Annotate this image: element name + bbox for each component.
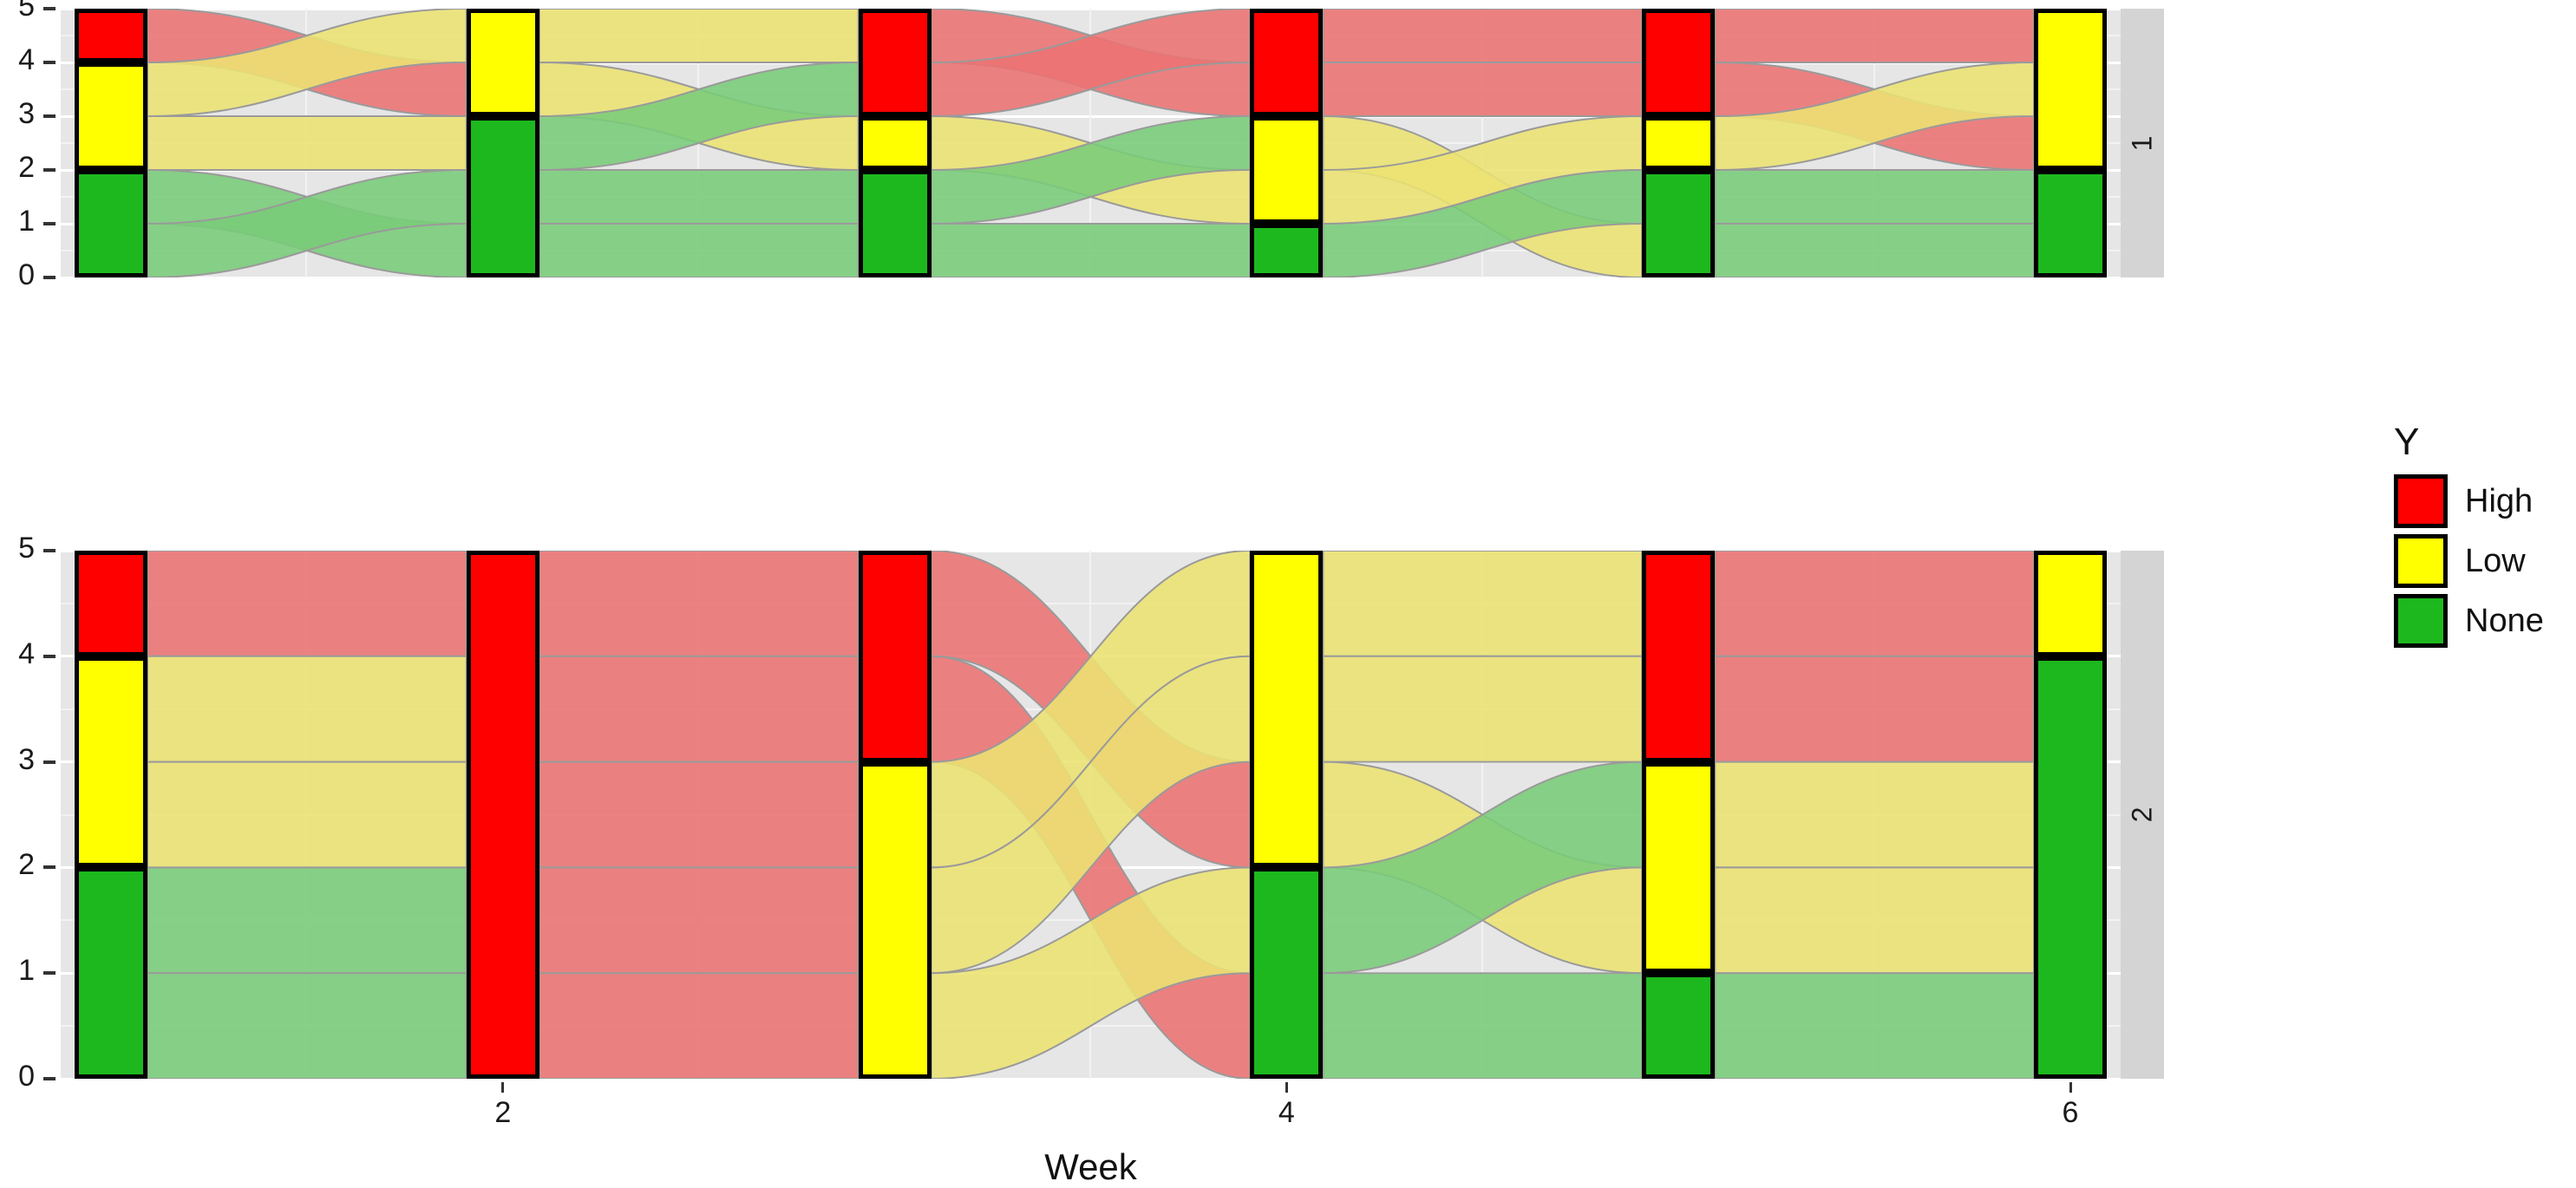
flow-ribbons [61,551,2121,1079]
stratum-block[interactable] [75,867,147,1079]
alluvium-flow [1715,656,2034,762]
y-axis-tick-label: 2 [0,848,35,882]
stratum-block[interactable] [859,170,932,277]
stratum-block[interactable] [467,551,539,1079]
alluvium-flow [1323,973,1642,1079]
stratum-block[interactable] [1642,170,1715,277]
stratum-block[interactable] [75,170,147,277]
y-axis-tick-label: 5 [0,532,35,565]
alluvium-flow [1715,973,2034,1079]
y-axis-tick-mark [43,1077,56,1080]
facet-strip-1: 1 [2121,9,2164,277]
stratum-block[interactable] [859,762,932,1079]
stratum-block[interactable] [1250,551,1323,867]
y-axis-tick-label: 4 [0,43,35,77]
y-axis-tick-mark [43,549,56,552]
alluvium-flow [147,551,467,656]
stratum-block[interactable] [75,551,147,656]
legend-title: Y [2394,421,2419,464]
alluvium-flow [1323,9,1642,62]
alluvial-chart-root: 012345 012345 1 2 246 Week Y HighLowNone [0,0,2576,1174]
facet-strip-label-1: 1 [2126,135,2158,151]
y-axis-tick-mark [43,971,56,975]
y-axis-tick-mark [43,61,56,64]
panel-facet-1 [61,9,2121,277]
alluvium-flow [539,224,859,277]
x-axis-tick-label: 6 [2036,1096,2105,1130]
y-axis-tick-label: 5 [0,0,35,23]
alluvium-flow [1323,551,1642,656]
alluvium-flow [1323,656,1642,762]
alluvium-flow [932,224,1251,277]
y-axis-tick-label: 4 [0,637,35,671]
stratum-block[interactable] [859,9,932,116]
x-axis-tick-mark [2069,1082,2072,1093]
alluvium-flow [147,867,467,973]
x-axis-tick-label: 2 [468,1096,538,1130]
stratum-block[interactable] [1250,9,1323,116]
alluvium-flow [147,762,467,868]
stratum-block[interactable] [75,9,147,62]
stratum-block[interactable] [859,551,932,762]
y-axis-tick-label: 1 [0,205,35,238]
y-axis-tick-label: 0 [0,1060,35,1093]
stratum-block[interactable] [1642,116,1715,170]
alluvium-flow [539,867,859,973]
legend-key-label: Low [2465,543,2526,580]
alluvium-flow [539,170,859,224]
x-axis-title: Week [61,1146,2121,1188]
y-axis-tick-label: 3 [0,97,35,131]
alluvium-flow [147,656,467,762]
alluvium-flow [539,551,859,656]
legend-key-swatch [2394,594,2448,648]
y-axis-tick-mark [43,168,56,172]
alluvium-flow [1715,224,2034,277]
legend-key-swatch [2394,534,2448,588]
stratum-block[interactable] [1642,9,1715,116]
y-axis-tick-label: 2 [0,151,35,185]
stratum-block[interactable] [1642,973,1715,1079]
stratum-block[interactable] [1250,224,1323,277]
legend-key-label: High [2465,483,2533,520]
alluvium-flow [147,116,467,170]
y-axis-tick-mark [43,222,56,225]
alluvium-flow [1715,9,2034,62]
panel-facet-2 [61,551,2121,1079]
x-axis-tick-mark [501,1082,504,1093]
y-axis-tick-mark [43,7,56,10]
stratum-block[interactable] [2034,170,2107,277]
y-axis-tick-mark [43,276,56,279]
alluvium-flow [539,9,859,62]
x-axis-tick-mark [1285,1082,1288,1093]
stratum-block[interactable] [75,656,147,868]
facet-strip-2: 2 [2121,551,2164,1079]
alluvium-flow [1715,867,2034,973]
legend-key-swatch [2394,474,2448,528]
y-axis-tick-mark [43,760,56,764]
stratum-block[interactable] [1250,867,1323,1079]
alluvium-flow [539,973,859,1079]
stratum-block[interactable] [2034,9,2107,170]
x-axis-tick-label: 4 [1252,1096,1321,1130]
stratum-block[interactable] [1642,551,1715,762]
y-axis-tick-mark [43,114,56,118]
stratum-block[interactable] [859,116,932,170]
alluvium-flow [539,656,859,762]
stratum-block[interactable] [1250,116,1323,224]
stratum-block[interactable] [467,9,539,116]
alluvium-flow [1715,170,2034,224]
y-axis-tick-label: 3 [0,743,35,777]
y-axis-tick-label: 1 [0,954,35,988]
alluvium-flow [1323,62,1642,116]
y-axis-tick-mark [43,865,56,869]
alluvium-flow [1715,762,2034,868]
y-axis-tick-mark [43,655,56,658]
stratum-block[interactable] [1642,762,1715,974]
stratum-block[interactable] [75,62,147,170]
stratum-block[interactable] [2034,551,2107,656]
facet-strip-label-2: 2 [2126,807,2158,823]
alluvium-flow [539,762,859,868]
alluvium-flow [1715,551,2034,656]
flow-ribbons [61,9,2121,277]
y-axis-tick-label: 0 [0,258,35,292]
stratum-block[interactable] [467,116,539,277]
stratum-block[interactable] [2034,656,2107,1079]
alluvium-flow [147,973,467,1079]
legend-key-label: None [2465,603,2544,640]
